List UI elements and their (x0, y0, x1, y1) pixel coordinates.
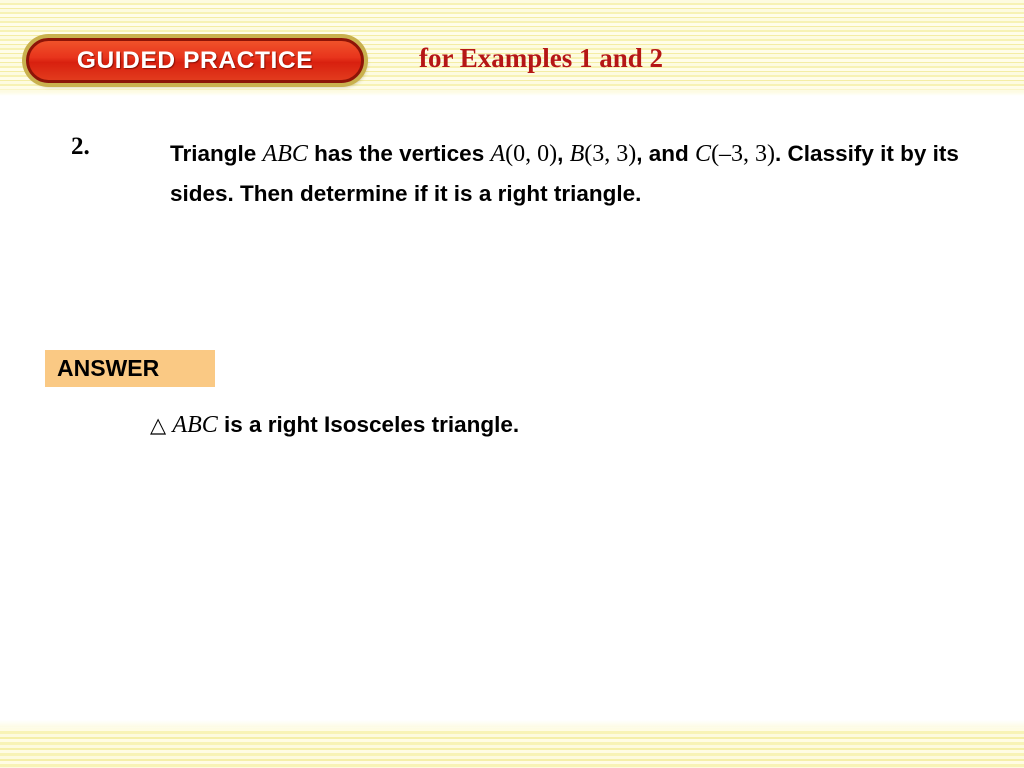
answer-badge: ANSWER (45, 350, 215, 387)
guided-practice-label: GUIDED PRACTICE (77, 47, 313, 75)
answer-statement: △ ABC is a right Isosceles triangle. (150, 412, 519, 439)
bottom-stripe-band (0, 728, 1024, 768)
guided-practice-badge: GUIDED PRACTICE (26, 38, 364, 83)
vertex-c-label: C (695, 141, 711, 167)
answer-subject-label: ABC (172, 412, 217, 438)
question-text: Triangle ABC has the vertices A(0, 0), B… (170, 134, 990, 213)
question-separator-2: , and (636, 141, 695, 166)
question-segment-vertices: has the vertices (308, 141, 491, 166)
vertex-b-coords: (3, 3) (584, 141, 636, 167)
page-title: for Examples 1 and 2 (419, 43, 663, 74)
question-segment-intro: Triangle (170, 141, 263, 166)
answer-badge-label: ANSWER (45, 355, 159, 382)
answer-predicate: is a right Isosceles triangle. (218, 412, 519, 437)
vertex-a-label: A (490, 141, 505, 167)
question-separator-1: , (557, 141, 570, 166)
vertex-c-coords: (–3, 3) (711, 141, 775, 167)
vertex-b-label: B (570, 141, 585, 167)
triangle-icon: △ (150, 413, 166, 437)
question-number: 2. (71, 133, 90, 161)
triangle-abc-label: ABC (263, 141, 308, 167)
vertex-a-coords: (0, 0) (505, 141, 557, 167)
